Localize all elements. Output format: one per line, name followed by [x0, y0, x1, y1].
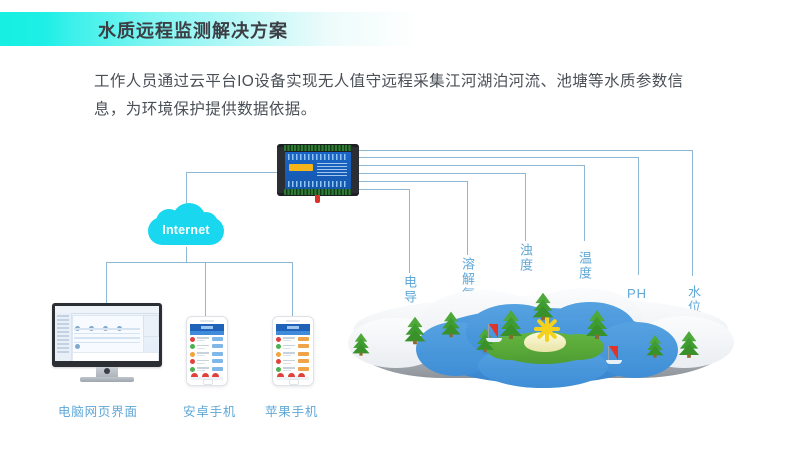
- connector-line-h-cloud: [186, 172, 277, 173]
- iphone-earpiece: [286, 320, 300, 322]
- list-item: [190, 359, 224, 365]
- iphone-app-header: [276, 324, 310, 331]
- monitor-bezel: [52, 303, 162, 367]
- io-gateway-device: [277, 144, 359, 198]
- intro-paragraph: 工作人员通过云平台IO设备实现无人值守远程采集江河湖泊河流、池塘等水质参数信息，…: [94, 68, 709, 124]
- device-front-panel: [285, 152, 351, 189]
- device-mount-ear-right: [351, 147, 359, 193]
- device-terminal-block-top: [284, 145, 352, 151]
- device-spec-text: [317, 163, 347, 177]
- iphone: [272, 316, 312, 384]
- connector-line-v-android: [205, 262, 206, 316]
- pine-tree: [405, 317, 426, 344]
- connector-line-h-turbidity: [359, 173, 525, 174]
- lake-scene: [348, 288, 736, 404]
- android-phone: [186, 316, 226, 384]
- screen-data-rows: [74, 328, 140, 346]
- sensor-label-turbidity: 浊度: [518, 243, 533, 273]
- android-sensor-list: [190, 336, 224, 366]
- pine-tree: [352, 333, 369, 355]
- list-item: [276, 351, 310, 357]
- iphone-body: [272, 316, 314, 386]
- connector-line-v-monitor: [106, 262, 107, 304]
- android-action-icons: [191, 367, 223, 376]
- connector-line-v-cloud-to-bus: [186, 247, 187, 262]
- screen-status-dots: [75, 318, 139, 324]
- device-antenna-connector: [315, 195, 320, 203]
- sailboat: [486, 324, 502, 342]
- android-phone-body: [186, 316, 228, 386]
- device-mount-ear-left: [277, 147, 285, 193]
- iphone-app-tabbar: [276, 331, 310, 335]
- connector-line-h-conductivity: [359, 189, 409, 190]
- pine-tree: [533, 293, 554, 320]
- connector-line-h-ph: [359, 157, 638, 158]
- desktop-monitor: [52, 303, 162, 385]
- device-port-row-bottom: [288, 181, 348, 187]
- pine-tree: [500, 310, 522, 338]
- pine-tree: [646, 335, 663, 357]
- list-item: [276, 359, 310, 365]
- monitor-brand-dot: [104, 368, 110, 374]
- client-label-android: 安卓手机: [183, 401, 236, 420]
- internet-cloud: Internet: [148, 203, 224, 247]
- device-port-row-top: [288, 154, 348, 160]
- screen-footer-bar: [72, 352, 159, 361]
- android-earpiece: [200, 320, 214, 322]
- pine-tree: [441, 312, 460, 337]
- island-flower-burst: [534, 316, 560, 342]
- pine-tree: [586, 310, 608, 338]
- connector-line-h-dissolved-oxygen: [359, 181, 467, 182]
- list-item: [190, 351, 224, 357]
- sailboat: [606, 346, 622, 364]
- connector-line-v-iphone: [292, 262, 293, 316]
- android-app-header: [190, 324, 224, 331]
- client-label-iphone: 苹果手机: [265, 401, 318, 420]
- iphone-home-button: [289, 379, 299, 385]
- list-item: [276, 336, 310, 342]
- connector-line-v-dissolved-oxygen: [467, 181, 468, 255]
- android-home-button: [203, 379, 213, 385]
- client-label-desktop: 电脑网页界面: [58, 401, 138, 420]
- connector-line-h-water-level: [359, 150, 692, 151]
- connector-line-h-temperature: [359, 165, 584, 166]
- connector-line-v-cloud: [186, 172, 187, 206]
- monitor-screen: [55, 306, 159, 361]
- list-item: [190, 336, 224, 342]
- sensor-label-temperature: 温度: [577, 251, 592, 281]
- list-item: [276, 344, 310, 350]
- connector-line-v-conductivity: [409, 189, 410, 273]
- connector-line-h-client-bus: [106, 262, 292, 263]
- android-app-tabbar: [190, 331, 224, 335]
- solution-diagram-page: 水质远程监测解决方案 工作人员通过云平台IO设备实现无人值守远程采集江河湖泊河流…: [0, 0, 792, 459]
- list-item: [190, 344, 224, 350]
- iphone-action-icons: [277, 367, 309, 376]
- screen-sidebar: [55, 313, 72, 361]
- connector-line-v-ph: [638, 157, 639, 275]
- cloud-label: Internet: [148, 223, 224, 237]
- connector-line-v-turbidity: [525, 173, 526, 241]
- connector-line-v-temperature: [584, 165, 585, 241]
- device-logo-sticker: [289, 164, 313, 171]
- page-title: 水质远程监测解决方案: [98, 17, 288, 43]
- iphone-sensor-list: [276, 336, 310, 366]
- screen-right-panel: [143, 315, 159, 337]
- pine-tree: [679, 331, 699, 357]
- monitor-stand-foot: [80, 377, 134, 382]
- connector-line-v-water-level: [692, 150, 693, 276]
